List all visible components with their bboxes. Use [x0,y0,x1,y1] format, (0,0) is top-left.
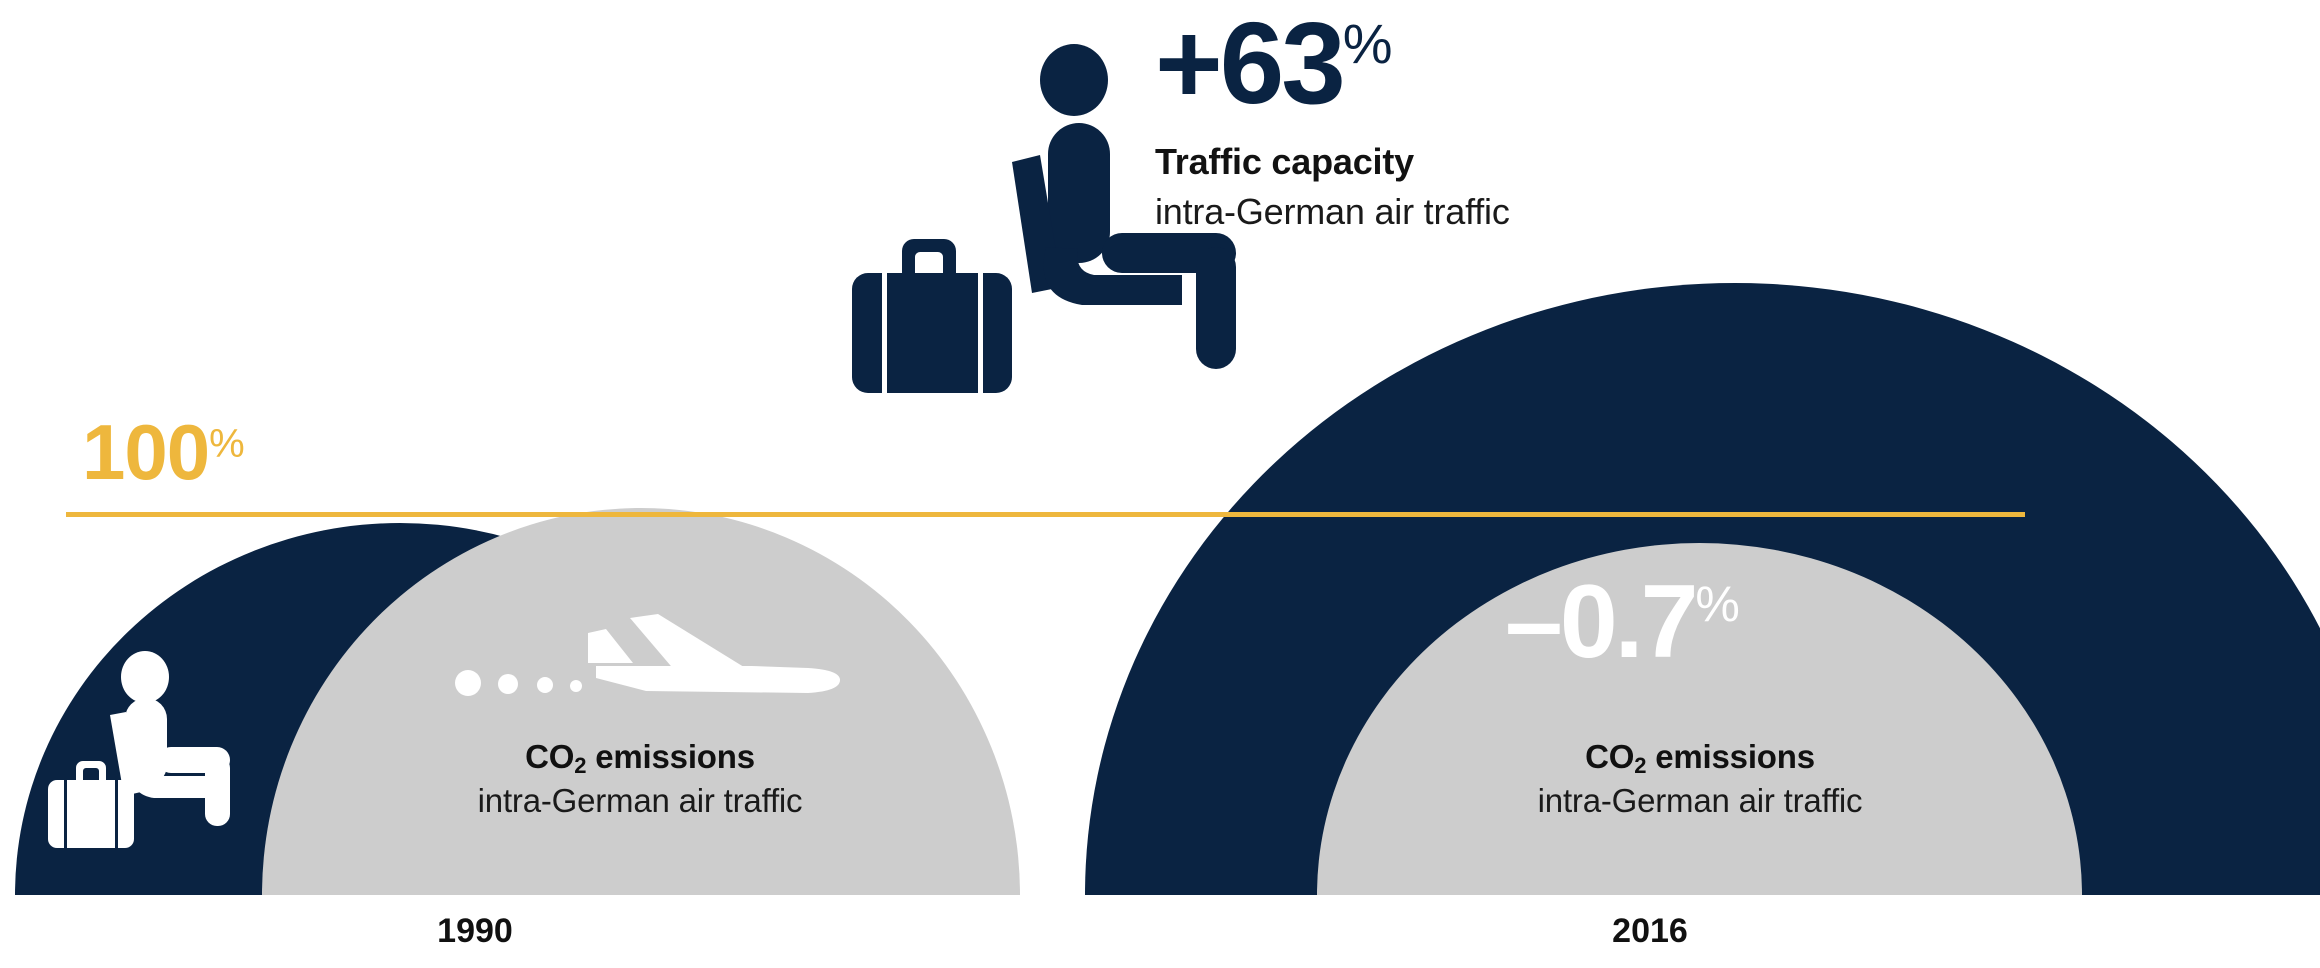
co2-change-value-2016: –0.7% [1505,570,1740,674]
caption-2016-subtitle: intra-German air traffic [1440,782,1960,820]
traffic-capacity-value-group: +63% [1155,10,1510,117]
year-label-2016: 2016 [1515,912,1785,951]
co2-change-percent-symbol-2016: % [1695,576,1739,632]
caption-1990: CO2 emissions intra-German air traffic [380,738,900,820]
caption-1990-title-tail: emissions [586,738,755,775]
caption-2016: CO2 emissions intra-German air traffic [1440,738,1960,820]
caption-1990-title-subscript: 2 [574,753,586,778]
headline-title: Traffic capacity [1155,141,1510,183]
reference-line-100-percent [66,512,2025,517]
reference-percent-symbol: % [209,422,245,466]
headline-subtitle: intra-German air traffic [1155,191,1510,233]
caption-2016-title-main: CO [1585,738,1634,775]
caption-1990-subtitle: intra-German air traffic [380,782,900,820]
caption-2016-title-subscript: 2 [1634,753,1646,778]
caption-2016-title: CO2 emissions [1440,738,1960,776]
traffic-capacity-value: +63 [1155,0,1343,128]
baseline-divider [0,895,2320,897]
infographic-canvas: 100% +63% Traffic capacity intra-German … [0,0,2320,968]
headline-block: +63% Traffic capacity intra-German air t… [1155,10,1510,233]
co2-change-number-2016: –0.7 [1505,564,1695,680]
year-label-1990: 1990 [340,912,610,951]
landing-airplane-icon [400,580,850,740]
caption-1990-title-main: CO [525,738,574,775]
caption-1990-title: CO2 emissions [380,738,900,776]
traffic-capacity-percent-symbol: % [1343,12,1393,75]
seated-passenger-with-suitcase-icon [40,630,250,855]
caption-2016-title-tail: emissions [1646,738,1815,775]
reference-line-label: 100% [82,413,245,491]
reference-value: 100 [82,408,209,496]
